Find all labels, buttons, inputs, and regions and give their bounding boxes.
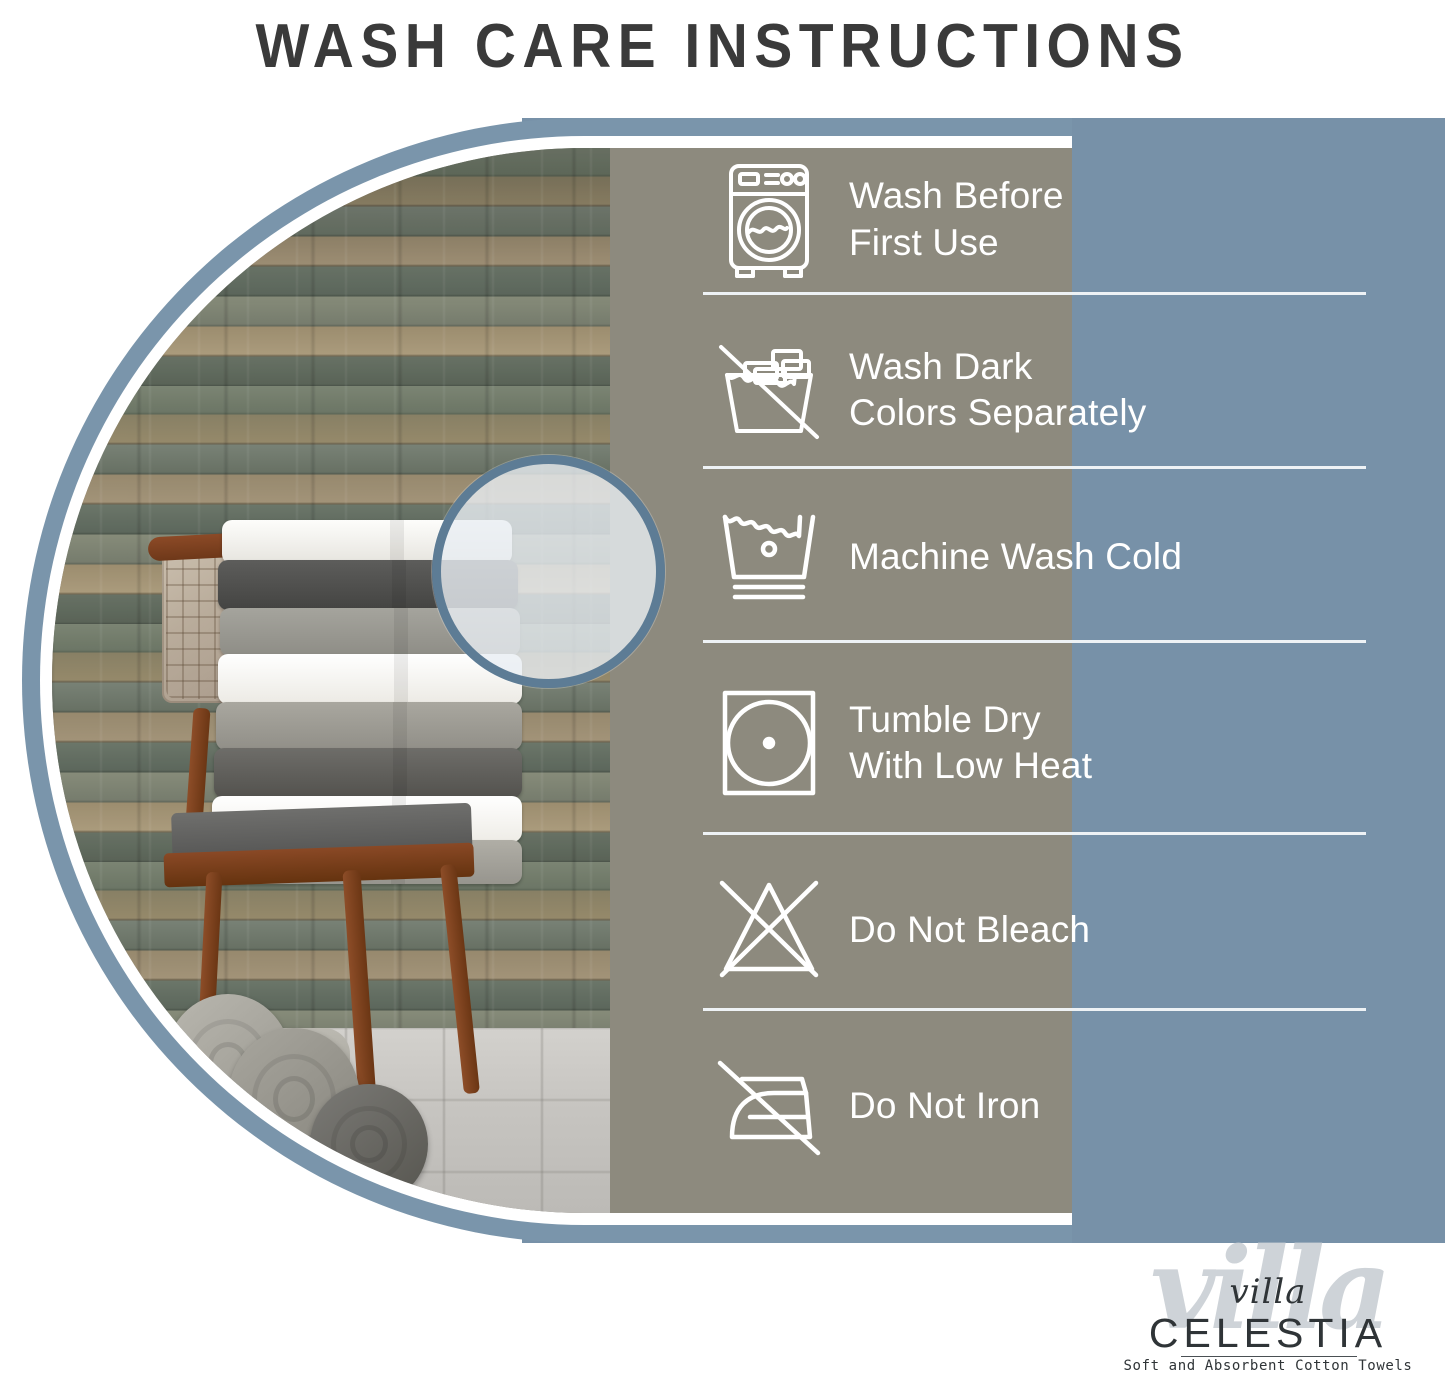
logo-wordmark-celestia: CELESTIA xyxy=(1103,1310,1433,1357)
care-label: Do Not Bleach xyxy=(835,907,1090,953)
care-row-wash-before-first-use: Wash Before First Use xyxy=(703,152,1383,287)
do-not-bleach-triangle-icon xyxy=(703,875,835,985)
towel-folded-grey-2 xyxy=(216,702,522,750)
care-row-do-not-iron: Do Not Iron xyxy=(703,1036,1383,1176)
towel-roll-charcoal xyxy=(310,1084,428,1204)
care-row-tumble-dry-low-heat: Tumble Dry With Low Heat xyxy=(703,668,1383,818)
tumble-dry-low-heat-icon xyxy=(703,687,835,799)
page-title: WASH CARE INSTRUCTIONS xyxy=(58,0,1387,92)
list-divider xyxy=(703,466,1366,469)
list-divider xyxy=(703,292,1366,295)
care-row-wash-dark-colors-separately: Wash Dark Colors Separately xyxy=(703,320,1383,460)
do-not-iron-icon xyxy=(703,1051,835,1161)
logo-tagline: Soft and Absorbent Cotton Towels xyxy=(1103,1358,1433,1374)
care-instruction-list: Wash Before First Use Wash Dark Colors S… xyxy=(703,140,1383,1230)
washing-machine-icon xyxy=(703,160,835,280)
wash-tub-cold-icon xyxy=(703,511,835,603)
brand-logo: villa villa CELESTIA Soft and Absorbent … xyxy=(1103,1236,1433,1364)
no-mixed-laundry-basket-icon xyxy=(703,337,835,443)
care-label: Wash Dark Colors Separately xyxy=(835,344,1147,437)
list-divider xyxy=(703,832,1366,835)
logo-divider-rule xyxy=(1181,1356,1357,1357)
care-label: Wash Before First Use xyxy=(835,173,1064,266)
care-label: Do Not Iron xyxy=(835,1083,1040,1129)
list-divider xyxy=(703,1008,1366,1011)
care-label: Tumble Dry With Low Heat xyxy=(835,697,1092,790)
towel-folded-charcoal-2 xyxy=(214,748,522,798)
care-row-do-not-bleach: Do Not Bleach xyxy=(703,860,1383,1000)
list-divider xyxy=(703,640,1366,643)
care-label: Machine Wash Cold xyxy=(835,534,1182,580)
logo-script-villa: villa xyxy=(1103,1272,1433,1312)
care-row-machine-wash-cold: Machine Wash Cold xyxy=(703,492,1383,622)
magnifier-circle-overlay xyxy=(432,455,665,688)
